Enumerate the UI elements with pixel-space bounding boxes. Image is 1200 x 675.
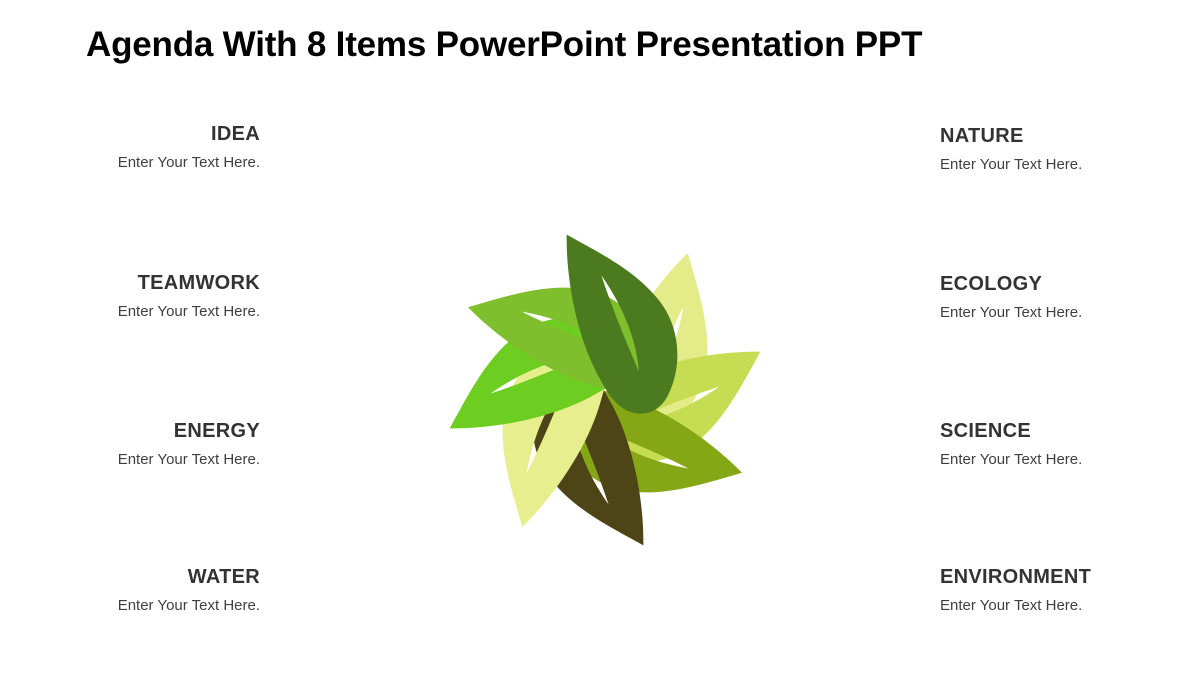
leaf-pinwheel-svg — [365, 145, 845, 635]
agenda-item-science[interactable]: SCIENCE Enter Your Text Here. — [940, 419, 1170, 470]
agenda-item-idea[interactable]: IDEA Enter Your Text Here. — [30, 122, 260, 173]
agenda-item-teamwork[interactable]: TEAMWORK Enter Your Text Here. — [30, 271, 260, 322]
agenda-item-nature[interactable]: NATURE Enter Your Text Here. — [940, 124, 1170, 175]
agenda-item-title: IDEA — [30, 122, 260, 146]
agenda-item-energy[interactable]: ENERGY Enter Your Text Here. — [30, 419, 260, 470]
agenda-item-body: Enter Your Text Here. — [940, 595, 1190, 616]
agenda-item-body: Enter Your Text Here. — [30, 301, 260, 322]
leaf-pinwheel-diagram — [365, 145, 845, 635]
agenda-item-title: NATURE — [940, 124, 1170, 148]
agenda-item-water[interactable]: WATER Enter Your Text Here. — [30, 565, 260, 616]
agenda-item-title: TEAMWORK — [30, 271, 260, 295]
page-title: Agenda With 8 Items PowerPoint Presentat… — [86, 22, 1116, 68]
agenda-item-ecology[interactable]: ECOLOGY Enter Your Text Here. — [940, 272, 1170, 323]
agenda-item-title: WATER — [30, 565, 260, 589]
agenda-item-title: SCIENCE — [940, 419, 1170, 443]
agenda-item-environment[interactable]: ENVIRONMENT Enter Your Text Here. — [940, 565, 1190, 616]
agenda-item-body: Enter Your Text Here. — [940, 154, 1170, 175]
agenda-item-body: Enter Your Text Here. — [30, 152, 260, 173]
agenda-item-body: Enter Your Text Here. — [30, 449, 260, 470]
agenda-item-body: Enter Your Text Here. — [940, 302, 1170, 323]
slide-canvas: Agenda With 8 Items PowerPoint Presentat… — [0, 0, 1200, 675]
agenda-item-body: Enter Your Text Here. — [940, 449, 1170, 470]
agenda-item-title: ECOLOGY — [940, 272, 1170, 296]
agenda-item-title: ENVIRONMENT — [940, 565, 1190, 589]
agenda-item-title: ENERGY — [30, 419, 260, 443]
agenda-item-body: Enter Your Text Here. — [30, 595, 260, 616]
